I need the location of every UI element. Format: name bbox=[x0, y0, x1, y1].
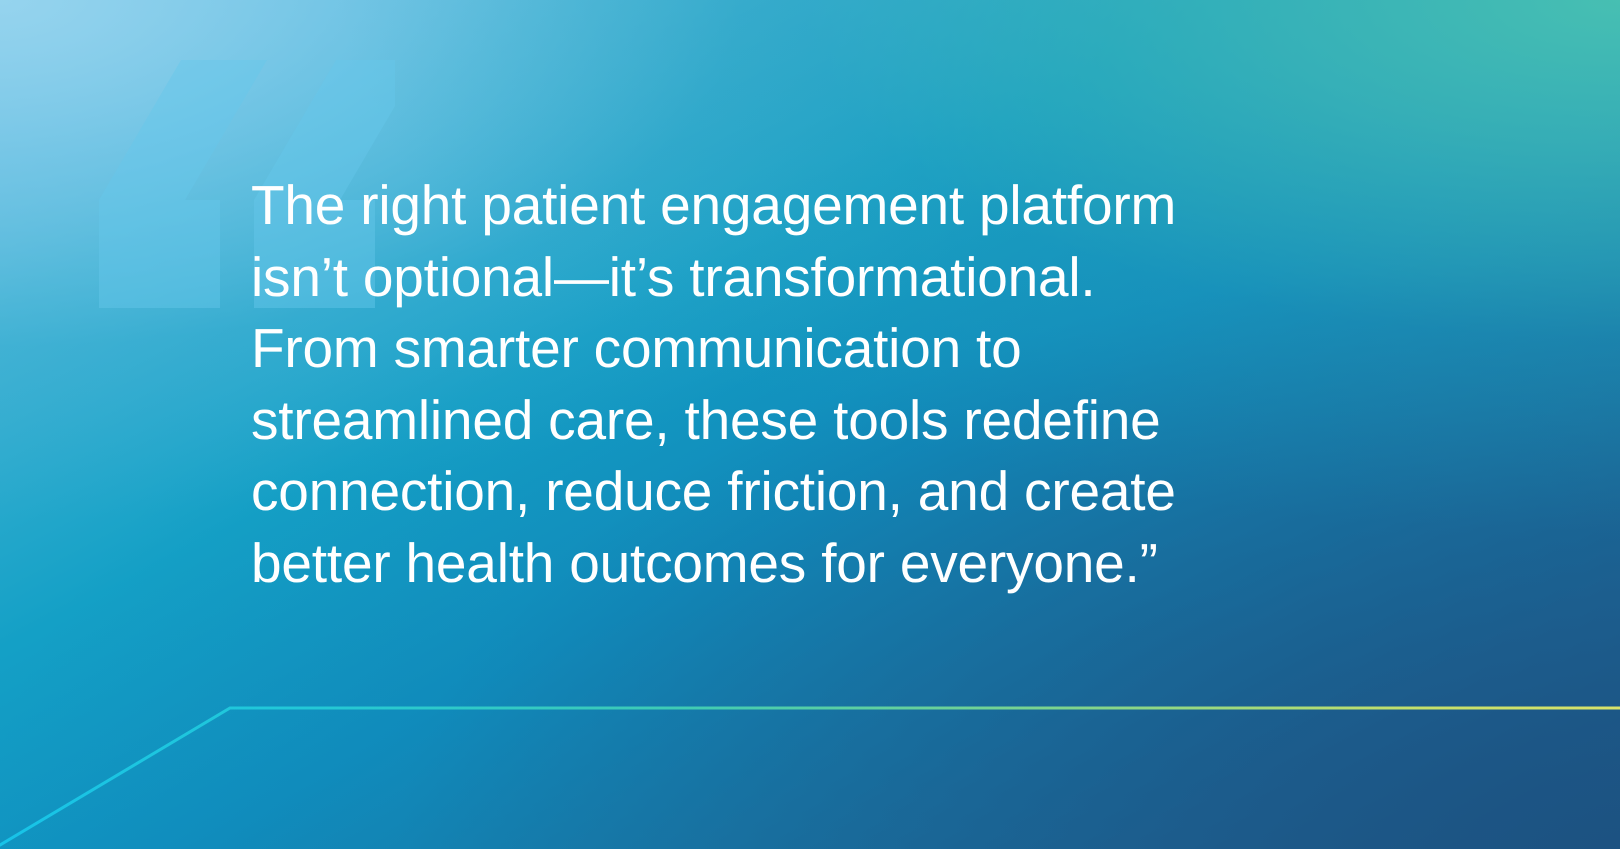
quote-text-block: The right patient engagement platform is… bbox=[251, 170, 1431, 599]
quote-card: The right patient engagement platform is… bbox=[0, 0, 1620, 849]
bottom-accent-polyline bbox=[0, 689, 1620, 849]
quote-line: From smarter communication to bbox=[251, 313, 1431, 385]
quote-line: isn’t optional—it’s transformational. bbox=[251, 242, 1431, 314]
quote-line: connection, reduce friction, and create bbox=[251, 456, 1431, 528]
quote-line: streamlined care, these tools redefine bbox=[251, 385, 1431, 457]
quote-line: The right patient engagement platform bbox=[251, 170, 1431, 242]
quote-line: better health outcomes for everyone.” bbox=[251, 528, 1431, 600]
